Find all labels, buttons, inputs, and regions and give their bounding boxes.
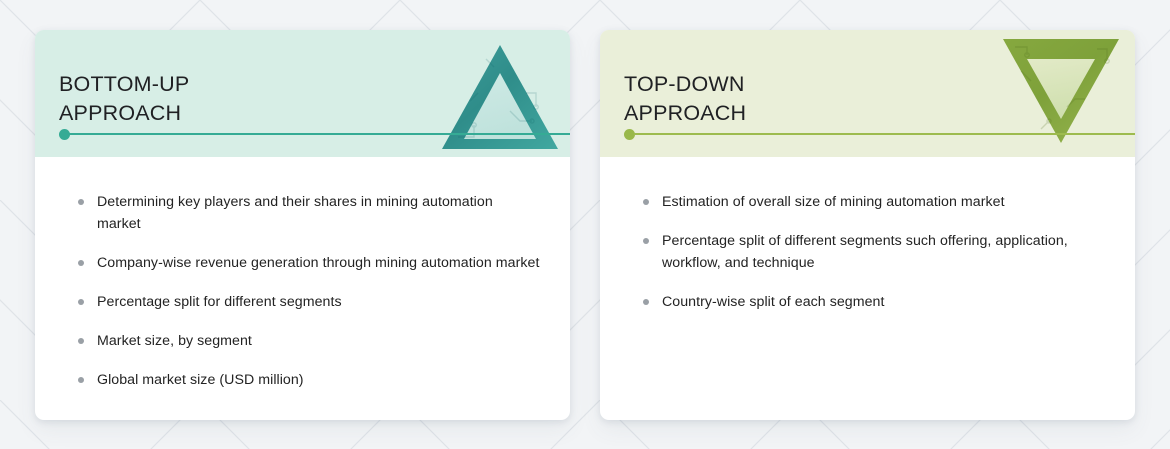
panel-top-down-body: Estimation of overall size of mining aut… xyxy=(600,157,1135,420)
list-item: Estimation of overall size of mining aut… xyxy=(622,191,1105,213)
panel-top-down-header: TOP-DOWN APPROACH xyxy=(600,30,1135,157)
rule-line xyxy=(634,133,1135,135)
panel-bottom-up-body: Determining key players and their shares… xyxy=(35,157,570,420)
list-item-text: Estimation of overall size of mining aut… xyxy=(662,194,1005,210)
panel-top-down-title: TOP-DOWN APPROACH xyxy=(624,70,1111,128)
bullet-dot-icon xyxy=(78,299,84,305)
top-down-bullet-list: Estimation of overall size of mining aut… xyxy=(622,191,1105,313)
list-item: Market size, by segment xyxy=(57,330,540,352)
bullet-dot-icon xyxy=(78,199,84,205)
panel-container: BOTTOM-UP APPROACH Determining key playe… xyxy=(0,0,1170,449)
bullet-dot-icon xyxy=(78,338,84,344)
rule-line xyxy=(69,133,570,135)
panel-top-down-rule xyxy=(624,128,1135,140)
list-item-text: Determining key players and their shares… xyxy=(97,194,493,232)
list-item: Percentage split of different segments s… xyxy=(622,230,1105,274)
list-item: Percentage split for different segments xyxy=(57,291,540,313)
bullet-dot-icon xyxy=(643,299,649,305)
panel-bottom-up: BOTTOM-UP APPROACH Determining key playe… xyxy=(35,30,570,420)
panel-bottom-up-title: BOTTOM-UP APPROACH xyxy=(59,70,546,128)
list-item: Country-wise split of each segment xyxy=(622,291,1105,313)
list-item-text: Country-wise split of each segment xyxy=(662,294,885,310)
bullet-dot-icon xyxy=(643,199,649,205)
bullet-dot-icon xyxy=(643,238,649,244)
list-item-text: Market size, by segment xyxy=(97,333,252,349)
panel-bottom-up-rule xyxy=(59,128,570,140)
list-item-text: Global market size (USD million) xyxy=(97,372,304,388)
bullet-dot-icon xyxy=(78,377,84,383)
list-item-text: Percentage split for different segments xyxy=(97,294,342,310)
panel-bottom-up-header: BOTTOM-UP APPROACH xyxy=(35,30,570,157)
list-item-text: Percentage split of different segments s… xyxy=(662,233,1068,271)
list-item: Determining key players and their shares… xyxy=(57,191,540,235)
list-item-text: Company-wise revenue generation through … xyxy=(97,255,539,271)
bottom-up-bullet-list: Determining key players and their shares… xyxy=(57,191,540,391)
list-item: Global market size (USD million) xyxy=(57,369,540,391)
bullet-dot-icon xyxy=(78,260,84,266)
list-item: Company-wise revenue generation through … xyxy=(57,252,540,274)
panel-top-down: TOP-DOWN APPROACH Estimation of overall … xyxy=(600,30,1135,420)
